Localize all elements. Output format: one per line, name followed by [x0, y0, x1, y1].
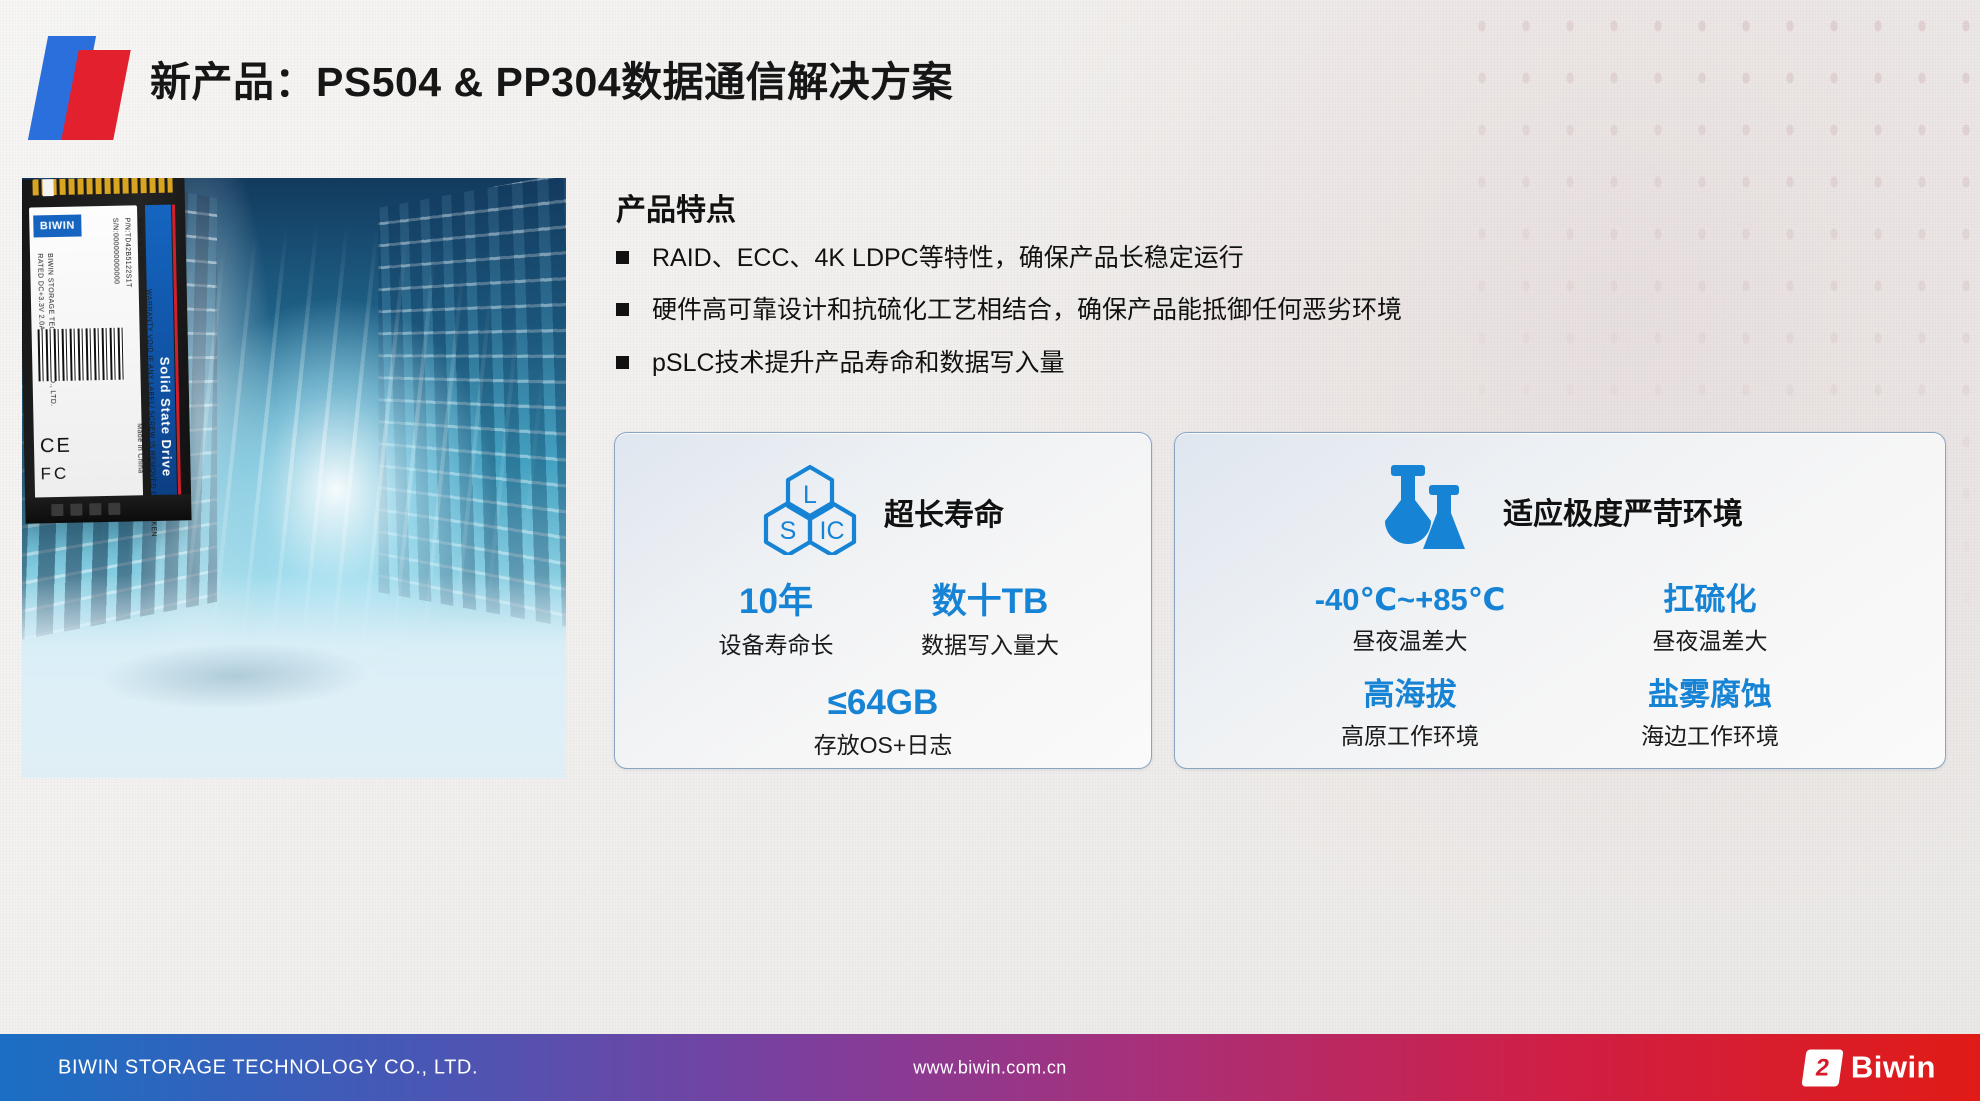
card-header: L S IC 超长寿命	[615, 433, 1151, 560]
features-bullet-list: RAID、ECC、4K LDPC等特性，确保产品长稳定运行 硬件高可靠设计和抗硫…	[616, 243, 1946, 400]
ssd-form-factor-text: NVMe M.2 SSD	[135, 217, 143, 271]
biwin-wordmark: Biwin	[1851, 1050, 1936, 1086]
stat-block: 盐雾腐蚀 海边工作环境	[1560, 678, 1860, 751]
list-item: 硬件高可靠设计和抗硫化工艺相结合，确保产品能抵御任何恶劣环境	[616, 295, 1946, 326]
stat-row: -40℃~+85℃ 昼夜温差大 扛硫化 昼夜温差大	[1175, 583, 1945, 656]
card-title: 超长寿命	[884, 490, 1004, 534]
ssd-ce-mark: CE	[40, 434, 128, 459]
slide-canvas: 新产品：PS504 & PP304数据通信解决方案 BIWIN NVMe M.2…	[0, 0, 1980, 1101]
card-stats: 10年 设备寿命长 数十TB 数据写入量大 ≤64GB 存放OS+日志	[615, 583, 1151, 760]
stat-row: 高海拔 高原工作环境 盐雾腐蚀 海边工作环境	[1175, 678, 1945, 751]
stat-value: 高海拔	[1260, 678, 1560, 712]
bullet-text: 硬件高可靠设计和抗硫化工艺相结合，确保产品能抵御任何恶劣环境	[652, 295, 1402, 326]
ssd-origin-text: Made in China	[136, 423, 144, 473]
ssd-chip	[70, 504, 82, 516]
ssd-component-row	[25, 494, 192, 523]
ssd-brand-tag: BIWIN	[33, 214, 81, 237]
stat-label: 设备寿命长	[669, 626, 883, 660]
biwin-logo-badge-icon: 2	[1801, 1049, 1843, 1086]
stat-block: ≤64GB 存放OS+日志	[814, 684, 953, 761]
stat-row: 10年 设备寿命长 数十TB 数据写入量大	[615, 583, 1151, 660]
ssd-chip	[108, 503, 120, 515]
bullet-text: RAID、ECC、4K LDPC等特性，确保产品长稳定运行	[652, 243, 1244, 274]
card-title: 适应极度严苛环境	[1503, 489, 1743, 533]
footer-website-link[interactable]: www.biwin.com.cn	[913, 1057, 1066, 1078]
stat-value: 数十TB	[883, 583, 1097, 622]
bullet-square-icon	[616, 303, 629, 316]
card-header: 适应极度严苛环境	[1175, 433, 1945, 558]
product-photo: BIWIN NVMe M.2 SSD P/N:TD42B5122S1T S/N:…	[22, 178, 566, 778]
stat-row: ≤64GB 存放OS+日志	[615, 684, 1151, 761]
card-stats: -40℃~+85℃ 昼夜温差大 扛硫化 昼夜温差大 高海拔 高原工作环境 盐雾腐…	[1175, 583, 1945, 751]
list-item: RAID、ECC、4K LDPC等特性，确保产品长稳定运行	[616, 243, 1946, 274]
stat-label: 高原工作环境	[1260, 717, 1560, 751]
card-long-life: L S IC 超长寿命 10年 设备寿命长 数十TB 数据写入量大	[614, 432, 1152, 769]
ssd-serial-number-text: S/N:000000000000	[111, 218, 119, 285]
bullet-square-icon	[616, 356, 629, 369]
stat-value: 10年	[669, 583, 883, 622]
svg-text:IC: IC	[820, 517, 845, 545]
card-harsh-environment: 适应极度严苛环境 -40℃~+85℃ 昼夜温差大 扛硫化 昼夜温差大 高海拔 高…	[1174, 432, 1946, 769]
lsic-hexagon-icon: L S IC	[762, 463, 858, 560]
page-title: 新产品：PS504 & PP304数据通信解决方案	[150, 48, 953, 108]
list-item: pSLC技术提升产品寿命和数据写入量	[616, 348, 1946, 379]
ssd-floor-shadow	[22, 628, 446, 724]
stat-label: 昼夜温差大	[1260, 622, 1560, 656]
stat-label: 昼夜温差大	[1560, 622, 1860, 656]
stat-value: -40℃~+85℃	[1260, 583, 1560, 617]
stat-label: 数据写入量大	[883, 626, 1097, 660]
ssd-chip	[51, 504, 63, 516]
stat-label: 存放OS+日志	[814, 726, 953, 760]
ssd-fcc-mark: FC	[40, 463, 128, 485]
biwin-footer-logo: 2 Biwin	[1804, 1049, 1936, 1086]
ssd-side-text: Solid State Drive	[157, 357, 175, 478]
stat-block: 数十TB 数据写入量大	[883, 583, 1097, 660]
footer-company-name: BIWIN STORAGE TECHNOLOGY CO., LTD.	[58, 1056, 478, 1079]
flask-icon	[1377, 463, 1477, 558]
svg-text:S: S	[780, 517, 797, 545]
ssd-part-number-text: P/N:TD42B5122S1T	[123, 217, 131, 287]
bullet-text: pSLC技术提升产品寿命和数据写入量	[652, 348, 1065, 379]
stat-value: 盐雾腐蚀	[1560, 678, 1860, 712]
stat-value: 扛硫化	[1560, 583, 1860, 617]
stat-value: ≤64GB	[814, 684, 953, 723]
svg-text:L: L	[803, 481, 817, 509]
biwin-brand-mark-icon	[36, 36, 128, 140]
slide-footer: BIWIN STORAGE TECHNOLOGY CO., LTD. www.b…	[0, 1034, 1980, 1101]
stat-block: 扛硫化 昼夜温差大	[1560, 583, 1860, 656]
slide-header: 新产品：PS504 & PP304数据通信解决方案	[0, 0, 1980, 160]
stat-block: 10年 设备寿命长	[669, 583, 883, 660]
stat-block: -40℃~+85℃ 昼夜温差大	[1260, 583, 1560, 656]
stat-label: 海边工作环境	[1560, 717, 1860, 751]
bullet-square-icon	[616, 251, 629, 264]
ssd-chip	[89, 503, 101, 515]
m2-ssd-module: BIWIN NVMe M.2 SSD P/N:TD42B5122S1T S/N:…	[22, 178, 192, 524]
ssd-key-notch	[42, 179, 53, 196]
features-heading: 产品特点	[616, 185, 736, 229]
ssd-barcode	[38, 328, 125, 382]
stat-block: 高海拔 高原工作环境	[1260, 678, 1560, 751]
